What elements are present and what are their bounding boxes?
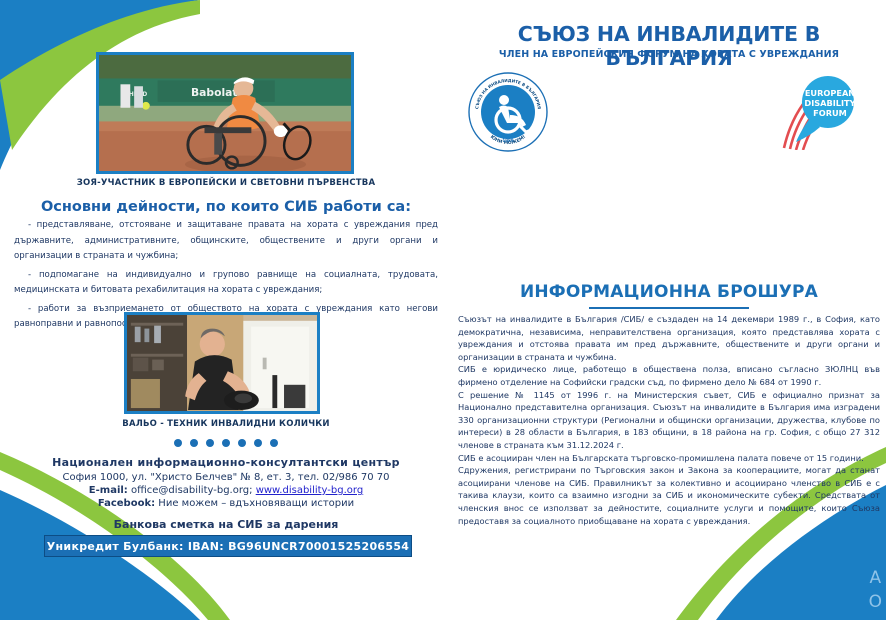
divider-dot xyxy=(238,439,246,447)
caption-tennis-photo: ЗОЯ-УЧАСТНИК В ЕВРОПЕЙСКИ И СВЕТОВНИ ПЪР… xyxy=(0,178,452,188)
website-link[interactable]: www.disability-bg.org xyxy=(256,485,364,496)
divider-dot xyxy=(190,439,198,447)
contact-email-line: E-mail: office@disability-bg.org; www.di… xyxy=(0,485,452,496)
iban-bar: Уникредит Булбанк: IBAN: BG96UNCR7000152… xyxy=(44,535,412,557)
contact-address: София 1000, ул. "Христо Белчев" № 8, ет.… xyxy=(0,472,452,483)
edge-letter: A xyxy=(869,566,882,590)
body-paragraph: Съюзът на инвалидите в България /СИБ/ е … xyxy=(458,313,880,363)
edf-line-1: EUROPEAN xyxy=(805,88,855,98)
right-column: СЪЮЗ НА ИНВАЛИДИТЕ В БЪЛГАРИЯ ЧЛЕН НА ЕВ… xyxy=(452,0,886,620)
photo-tennis-athlete: Babolat HEAD xyxy=(96,52,354,174)
divider-dot xyxy=(270,439,278,447)
organization-title: СЪЮЗ НА ИНВАЛИДИТЕ В БЪЛГАРИЯ xyxy=(452,22,886,70)
edf-line-2: DISABILITY xyxy=(804,98,856,108)
sib-logo-icon: СЪЮЗ НА ИНВАЛИДИТЕ В БЪЛГАРИЯ ЮНИ МОЖЕМ!… xyxy=(466,70,550,154)
sib-logo-year: 1989 xyxy=(502,138,513,143)
heading-rule xyxy=(589,307,749,309)
left-column: Babolat HEAD xyxy=(0,0,452,620)
edf-line-3: FORUM xyxy=(813,108,847,118)
contact-block: Национален информационно-консултантски ц… xyxy=(0,456,452,531)
photo-wheelchair-technician xyxy=(124,312,320,414)
email-value: office@disability-bg.org; xyxy=(131,485,253,496)
divider-dot xyxy=(206,439,214,447)
body-paragraph: СИБ е юридическо лице, работещо в общест… xyxy=(458,363,880,388)
body-paragraph: СИБ е асоцииран член на Българската търг… xyxy=(458,452,880,465)
dot-divider xyxy=(0,432,452,451)
email-label: E-mail: xyxy=(89,485,128,496)
edge-letter: O xyxy=(869,590,882,614)
tennis-board-brand: Babolat xyxy=(191,86,238,99)
facebook-value: Ние можем – вдъхновяващи истории xyxy=(158,498,354,509)
activity-item: - подпомагане на индивидуално и групово … xyxy=(14,268,438,299)
edf-logo-icon: EUROPEAN DISABILITY FORUM xyxy=(776,70,880,150)
body-text-block: Съюзът на инвалидите в България /СИБ/ е … xyxy=(458,313,880,527)
body-paragraph: Сдружения, регистрирани по Търговския за… xyxy=(458,464,880,527)
activities-title: Основни дейности, по които СИБ работи са… xyxy=(0,199,452,215)
divider-dot xyxy=(254,439,262,447)
contact-center-title: Национален информационно-консултантски ц… xyxy=(0,456,452,469)
facebook-label: Facebook: xyxy=(98,498,155,509)
brochure-page: Babolat HEAD xyxy=(0,0,886,620)
bank-account-title: Банкова сметка на СИБ за дарения xyxy=(0,518,452,531)
brochure-heading: ИНФОРМАЦИОННА БРОШУРА xyxy=(452,282,886,302)
organization-subtitle: ЧЛЕН НА ЕВРОПЕЙСКИЯ ФОРУМ НА ХОРАТА С УВ… xyxy=(452,49,886,60)
caption-technician-photo: ВАЛЬО - ТЕХНИК ИНВАЛИДНИ КОЛИЧКИ xyxy=(0,419,452,429)
edge-letters: A O xyxy=(869,566,882,614)
body-paragraph: С решение № 1145 от 1996 г. на Министерс… xyxy=(458,389,880,452)
contact-facebook-line: Facebook: Ние можем – вдъхновяващи истор… xyxy=(0,498,452,509)
activity-item: - представляване, отстояване и защитаван… xyxy=(14,218,438,265)
divider-dot xyxy=(174,439,182,447)
divider-dot xyxy=(222,439,230,447)
